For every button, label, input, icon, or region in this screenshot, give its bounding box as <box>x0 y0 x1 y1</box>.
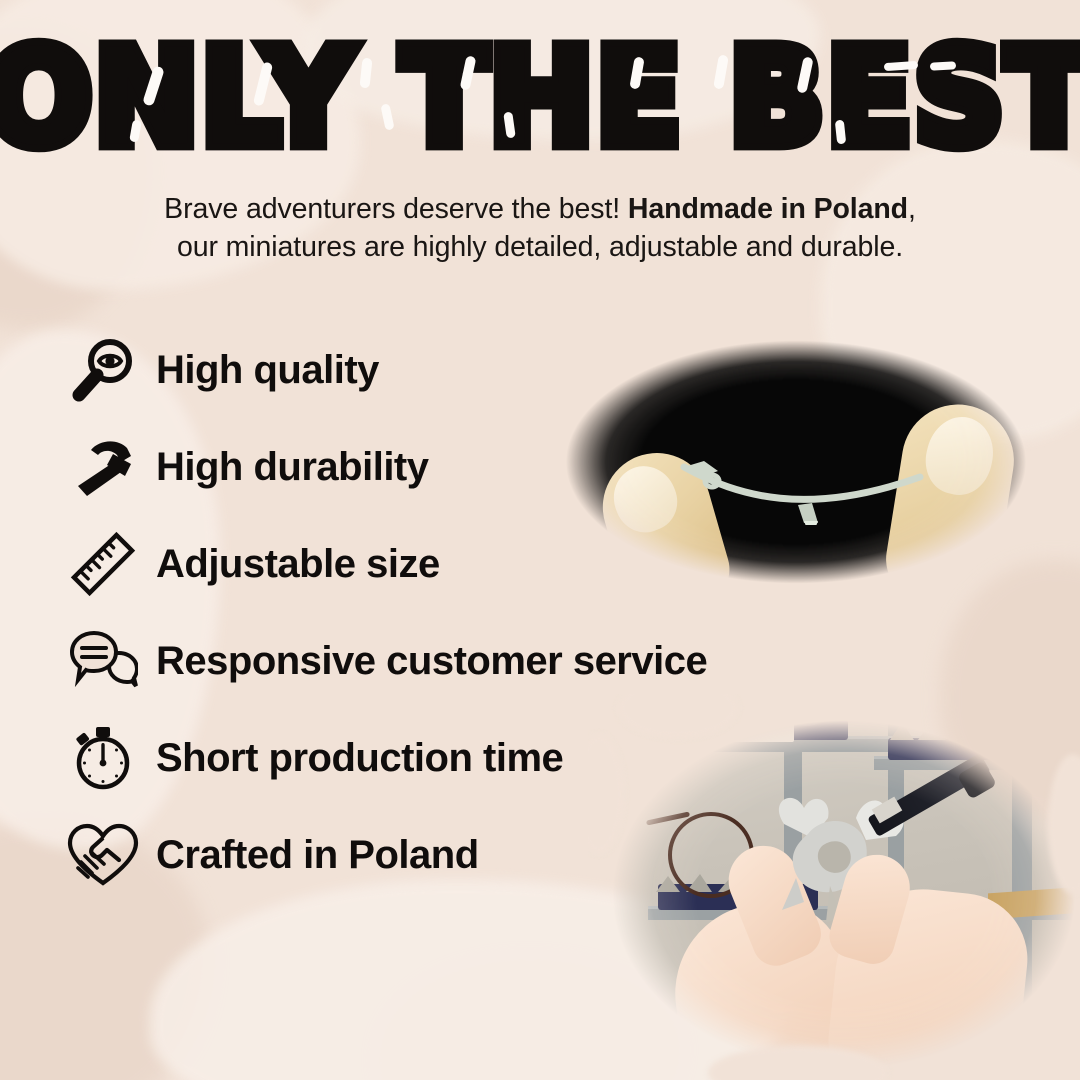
feature-item-high-durability: High durability <box>64 425 804 508</box>
headline-container: ONLY THE BEST <box>0 30 1080 150</box>
heart-handshake-icon <box>64 819 142 891</box>
feature-item-short-production-time: Short production time <box>64 716 804 799</box>
feature-list: High quality High durability <box>64 328 804 910</box>
feature-label: High durability <box>156 447 429 487</box>
subtitle: Brave adventurers deserve the best! Hand… <box>0 190 1080 266</box>
subtitle-tail: , <box>908 193 916 225</box>
subtitle-bold-phrase: Handmade in Poland <box>628 193 908 225</box>
magnifier-eye-icon <box>64 334 142 406</box>
hammer-icon <box>64 431 142 503</box>
feature-item-crafted-in-poland: Crafted in Poland <box>64 813 804 896</box>
miniature-parts-cluster <box>884 716 1080 744</box>
ruler-icon <box>64 528 142 600</box>
feature-label: Crafted in Poland <box>156 835 479 875</box>
feature-label: Adjustable size <box>156 544 440 584</box>
chat-bubbles-icon <box>64 625 142 697</box>
feature-item-high-quality: High quality <box>64 328 804 411</box>
fingernail <box>919 410 1001 501</box>
page-title: ONLY THE BEST <box>0 30 1080 164</box>
feature-item-adjustable-size: Adjustable size <box>64 522 804 605</box>
subtitle-lead: Brave adventurers deserve the best! <box>164 193 628 225</box>
feature-label: High quality <box>156 350 379 390</box>
feature-item-responsive-customer-service: Responsive customer service <box>64 619 804 702</box>
feature-label: Responsive customer service <box>156 641 707 681</box>
feature-label: Short production time <box>156 738 563 778</box>
subtitle-line-2: our miniatures are highly detailed, adju… <box>0 228 1080 266</box>
stopwatch-icon <box>64 722 142 794</box>
subtitle-line-1: Brave adventurers deserve the best! Hand… <box>0 190 1080 228</box>
promo-poster: ONLY THE BEST Brave adventurers deserve … <box>0 0 1080 1080</box>
